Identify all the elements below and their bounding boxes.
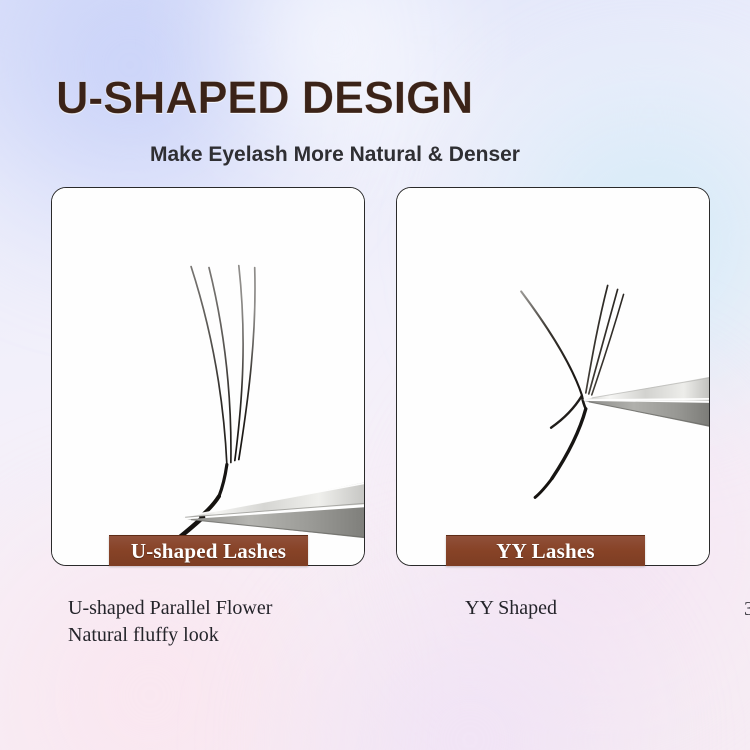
banner-u-shaped-lashes: U-shaped Lashes xyxy=(109,535,308,566)
product-photo-yy-shaped xyxy=(397,188,709,565)
caption-yy-shaped: YY Shaped xyxy=(465,595,557,622)
page-number: 3 xyxy=(744,598,750,621)
banner-yy-lashes: YY Lashes xyxy=(446,535,645,566)
banner-label-yy: YY Lashes xyxy=(496,539,594,564)
banner-label-u-shaped: U-shaped Lashes xyxy=(131,539,286,564)
page-title: U-SHAPED DESIGN xyxy=(56,72,473,124)
poster-stage: U-SHAPED DESIGN Make Eyelash More Natura… xyxy=(0,0,750,750)
product-card-yy-shaped[interactable] xyxy=(396,187,710,566)
caption-u-shaped: U-shaped Parallel Flower Natural fluffy … xyxy=(68,595,272,649)
page-subtitle: Make Eyelash More Natural & Denser xyxy=(150,143,520,167)
product-photo-u-shaped xyxy=(52,188,364,565)
product-card-u-shaped[interactable] xyxy=(51,187,365,566)
